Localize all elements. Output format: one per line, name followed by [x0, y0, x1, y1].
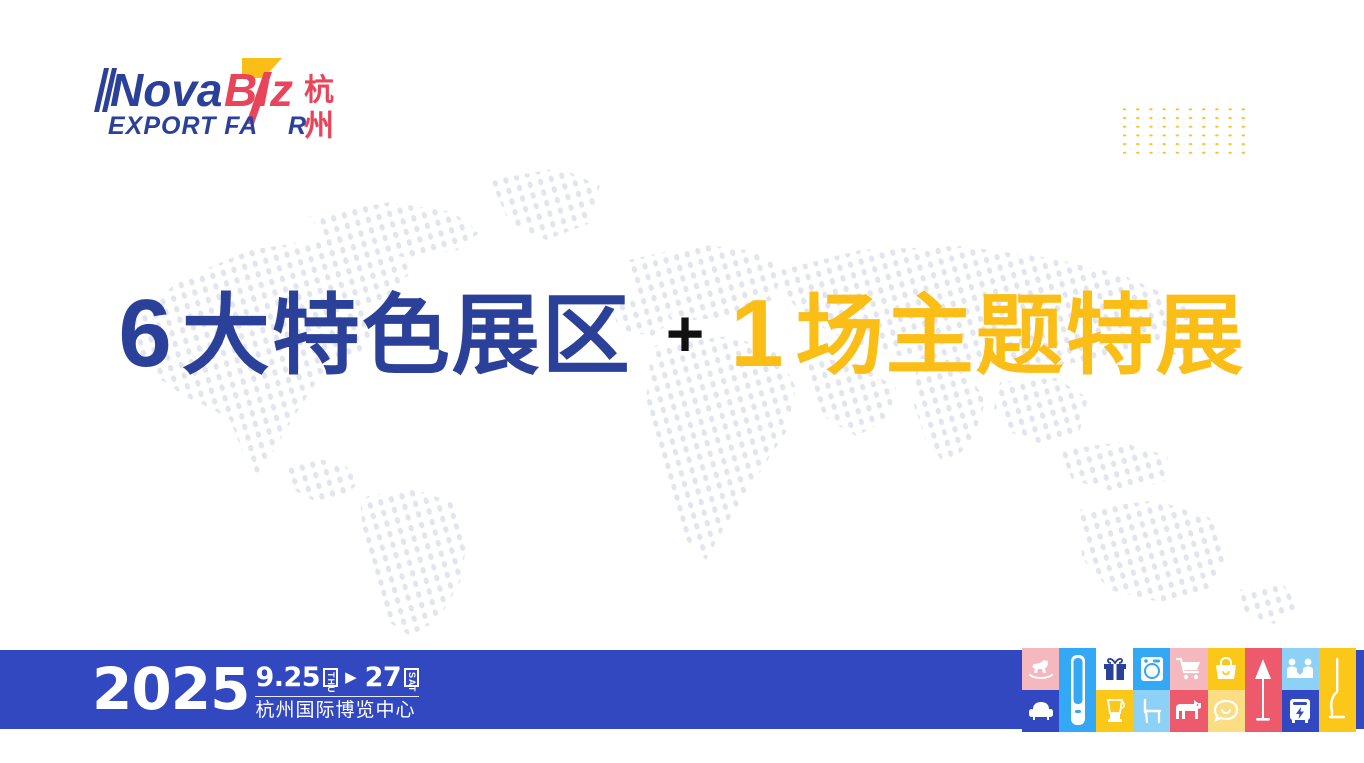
floor-lamp-icon [1249, 655, 1277, 725]
armchair-icon [1028, 701, 1054, 721]
headline: 6大特色展区+1场主题特展 [0, 286, 1364, 382]
tile-power-station[interactable] [1282, 690, 1319, 732]
shopping-cart-icon [1176, 657, 1202, 681]
orange-dot-grid-decoration [1118, 105, 1250, 157]
svg-text:Nova: Nova [110, 64, 222, 116]
event-date-block: 2025 9.25 THU ▶ 27 SAT 杭州国际博览中心 [92, 660, 419, 722]
tile-chat-bubble[interactable] [1208, 690, 1245, 732]
event-year: 2025 [92, 660, 249, 718]
date-arrow-icon: ▶ [345, 670, 357, 685]
dog-icon [1175, 699, 1203, 723]
svg-text:EXPORT FA: EXPORT FA [108, 112, 258, 140]
special-label: 场主题特展 [796, 292, 1246, 380]
zones-label: 大特色展区 [182, 292, 632, 380]
dow-start-badge: THU [323, 668, 338, 687]
category-icon-mosaic [1022, 648, 1356, 732]
floor-fan-icon [1324, 655, 1350, 725]
slide-canvas: Nova Biz EXPORT FA R 杭 州 6大特色展区+1场主题特展 2… [0, 0, 1364, 763]
chat-bubble-icon [1213, 699, 1239, 723]
dow-end-badge: SAT [404, 668, 419, 687]
svg-text:杭: 杭 [304, 73, 334, 108]
zones-count: 6 [118, 286, 169, 382]
rocking-horse-icon [1028, 658, 1054, 680]
tile-rocking-horse[interactable] [1022, 648, 1059, 690]
tile-air-conditioner[interactable] [1059, 648, 1096, 732]
power-station-icon [1288, 698, 1312, 724]
washing-machine-icon [1140, 656, 1164, 682]
tile-floor-lamp[interactable] [1245, 648, 1282, 732]
blender-icon [1104, 698, 1126, 724]
tile-dog[interactable] [1170, 690, 1207, 732]
gift-icon [1102, 657, 1128, 681]
event-date-range: 9.25 THU ▶ 27 SAT [255, 662, 419, 693]
tile-washing-machine[interactable] [1133, 648, 1170, 690]
date-start: 9.25 [255, 664, 320, 691]
chair-icon [1141, 698, 1163, 724]
tile-handshake[interactable] [1282, 648, 1319, 690]
tile-armchair[interactable] [1022, 690, 1059, 732]
tile-blender[interactable] [1096, 690, 1133, 732]
plus-sign: + [666, 300, 705, 366]
tile-chair[interactable] [1133, 690, 1170, 732]
handbag-icon [1214, 657, 1238, 681]
svg-text:州: 州 [304, 109, 334, 144]
tile-gift[interactable] [1096, 648, 1133, 690]
date-end: 27 [365, 664, 402, 691]
novabiz-export-fair-logo: Nova Biz EXPORT FA R 杭 州 [92, 56, 352, 146]
special-count: 1 [730, 286, 781, 382]
tile-floor-fan[interactable] [1319, 648, 1356, 732]
air-conditioner-icon [1068, 654, 1088, 726]
venue-name: 杭州国际博览中心 [255, 696, 419, 721]
tile-shopping-cart[interactable] [1170, 648, 1207, 690]
handshake-icon [1286, 658, 1314, 680]
tile-handbag[interactable] [1208, 648, 1245, 690]
